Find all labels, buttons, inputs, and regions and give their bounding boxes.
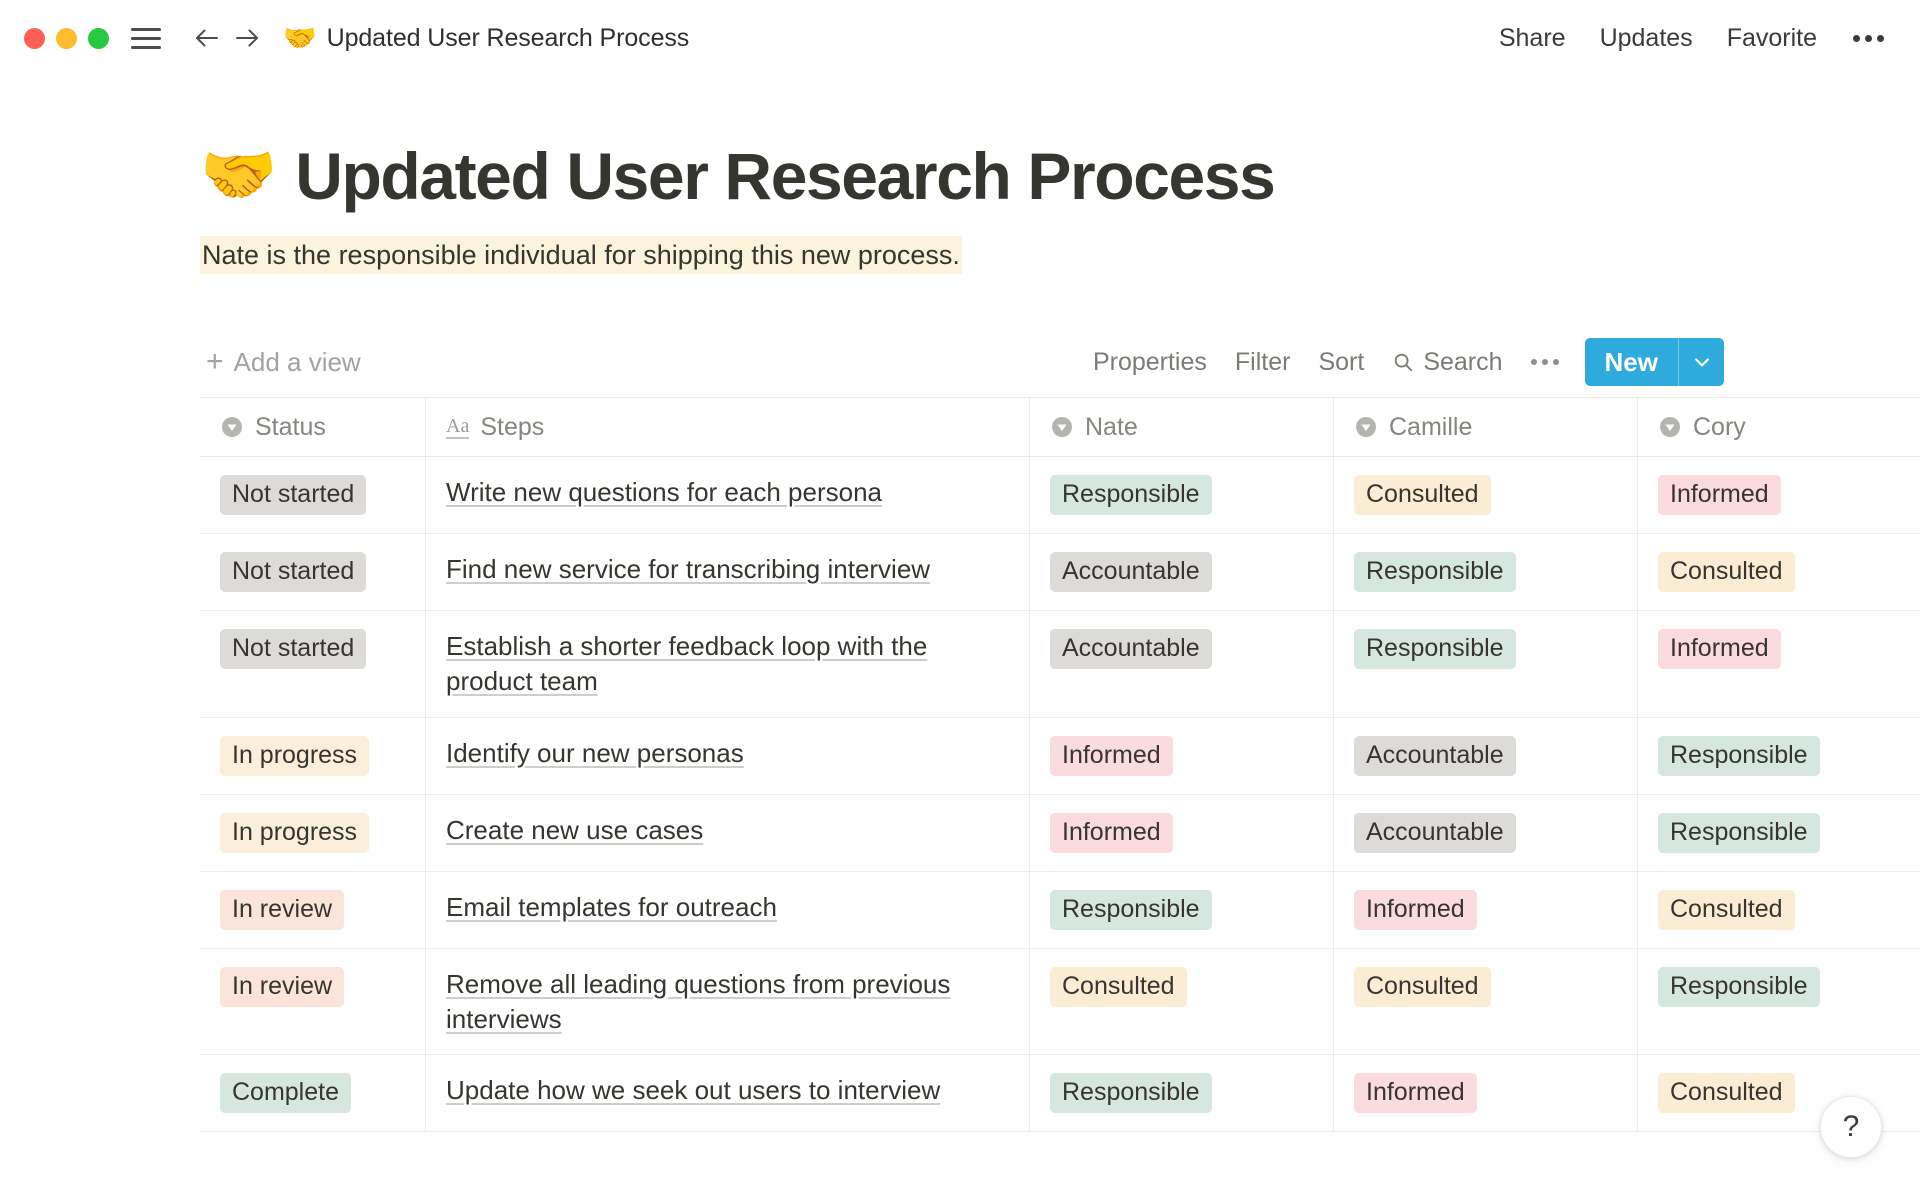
raci-badge-camille: Consulted [1354, 967, 1491, 1007]
cell-nate[interactable]: Accountable [1030, 534, 1334, 610]
step-link[interactable]: Find new service for transcribing interv… [446, 552, 930, 587]
select-icon [1050, 415, 1074, 439]
table-row[interactable]: Not startedEstablish a shorter feedback … [200, 611, 1920, 718]
content-column: 🤝 Updated User Research Process Nate is … [0, 140, 1920, 1132]
table-row[interactable]: Not startedFind new service for transcri… [200, 534, 1920, 611]
back-arrow-icon[interactable] [187, 18, 227, 58]
raci-badge-camille: Responsible [1354, 552, 1516, 592]
column-header-nate[interactable]: Nate [1030, 398, 1334, 456]
cell-steps[interactable]: Find new service for transcribing interv… [426, 534, 1030, 610]
column-header-cory-label: Cory [1693, 413, 1746, 442]
select-icon [1658, 415, 1682, 439]
titlebar-actions: Share Updates Favorite [1499, 24, 1886, 53]
column-header-nate-label: Nate [1085, 413, 1138, 442]
question-mark-icon: ? [1843, 1110, 1860, 1144]
database-view-toolbar: + Add a view Properties Filter Sort Sear… [200, 335, 1920, 389]
table-body: Not startedWrite new questions for each … [200, 457, 1920, 1132]
breadcrumb-title[interactable]: Updated User Research Process [327, 24, 690, 53]
raci-badge-cory: Responsible [1658, 967, 1820, 1007]
column-header-steps[interactable]: Aa Steps [426, 398, 1030, 456]
traffic-lights [24, 28, 109, 49]
table-row[interactable]: In reviewRemove all leading questions fr… [200, 949, 1920, 1056]
status-badge: In review [220, 967, 344, 1007]
column-header-camille[interactable]: Camille [1334, 398, 1638, 456]
cell-nate[interactable]: Informed [1030, 795, 1334, 871]
page-title-text[interactable]: Updated User Research Process [295, 140, 1274, 213]
table-row[interactable]: In reviewEmail templates for outreachRes… [200, 872, 1920, 949]
database-table: Status Aa Steps [200, 397, 1920, 1132]
raci-badge-nate: Informed [1050, 736, 1173, 776]
column-header-status-label: Status [255, 413, 326, 442]
add-view-button[interactable]: + Add a view [200, 343, 367, 382]
help-button[interactable]: ? [1820, 1096, 1882, 1158]
favorite-button[interactable]: Favorite [1727, 24, 1817, 53]
raci-badge-nate: Informed [1050, 813, 1173, 853]
cell-camille[interactable]: Accountable [1334, 718, 1638, 794]
status-badge: Complete [220, 1073, 351, 1113]
more-options-icon[interactable] [1851, 29, 1886, 48]
close-window-button[interactable] [24, 28, 45, 49]
cell-status[interactable]: In review [200, 949, 426, 1055]
cell-status[interactable]: In review [200, 872, 426, 948]
raci-badge-camille: Accountable [1354, 736, 1516, 776]
column-header-steps-label: Steps [480, 413, 544, 442]
raci-badge-nate: Consulted [1050, 967, 1187, 1007]
cell-steps[interactable]: Identify our new personas [426, 718, 1030, 794]
table-row[interactable]: CompleteUpdate how we seek out users to … [200, 1055, 1920, 1132]
cell-cory[interactable]: Responsible [1638, 718, 1920, 794]
title-bar: 🤝 Updated User Research Process Share Up… [0, 0, 1920, 76]
step-link[interactable]: Establish a shorter feedback loop with t… [446, 629, 1009, 699]
app-window: 🤝 Updated User Research Process Share Up… [0, 0, 1920, 1200]
raci-badge-cory: Responsible [1658, 813, 1820, 853]
table-row[interactable]: Not startedWrite new questions for each … [200, 457, 1920, 534]
maximize-window-button[interactable] [88, 28, 109, 49]
cell-camille[interactable]: Consulted [1334, 457, 1638, 533]
cell-cory[interactable]: Informed [1638, 611, 1920, 717]
page-title: 🤝 Updated User Research Process [200, 140, 1920, 213]
forward-arrow-icon[interactable] [227, 18, 267, 58]
text-aa-icon: Aa [446, 416, 469, 439]
raci-badge-cory: Responsible [1658, 736, 1820, 776]
step-link[interactable]: Create new use cases [446, 813, 703, 848]
page-body: 🤝 Updated User Research Process Nate is … [0, 140, 1920, 1132]
raci-badge-camille: Informed [1354, 1073, 1477, 1113]
status-badge: In review [220, 890, 344, 930]
step-link[interactable]: Update how we seek out users to intervie… [446, 1073, 940, 1108]
cell-nate[interactable]: Consulted [1030, 949, 1334, 1055]
cell-status[interactable]: Not started [200, 611, 426, 717]
add-view-label: Add a view [234, 347, 361, 378]
raci-badge-cory: Consulted [1658, 1073, 1795, 1113]
cell-steps[interactable]: Remove all leading questions from previo… [426, 949, 1030, 1055]
step-link[interactable]: Identify our new personas [446, 736, 744, 771]
sidebar-toggle-icon[interactable] [131, 24, 165, 52]
raci-badge-camille: Responsible [1354, 629, 1516, 669]
column-header-camille-label: Camille [1389, 413, 1472, 442]
table-row[interactable]: In progressIdentify our new personasInfo… [200, 718, 1920, 795]
plus-icon: + [206, 347, 224, 377]
raci-badge-cory: Informed [1658, 475, 1781, 515]
page-subtitle-text[interactable]: Nate is the responsible individual for s… [200, 236, 962, 274]
cell-steps[interactable]: Update how we seek out users to intervie… [426, 1055, 1030, 1131]
cell-status[interactable]: Complete [200, 1055, 426, 1131]
raci-badge-cory: Informed [1658, 629, 1781, 669]
cell-camille[interactable]: Consulted [1334, 949, 1638, 1055]
sort-button[interactable]: Sort [1304, 342, 1378, 383]
status-badge: Not started [220, 629, 366, 669]
cell-cory[interactable]: Responsible [1638, 795, 1920, 871]
status-badge: In progress [220, 736, 369, 776]
page-handshake-icon[interactable]: 🤝 [200, 145, 277, 207]
select-icon [220, 415, 244, 439]
cell-nate[interactable]: Responsible [1030, 872, 1334, 948]
raci-badge-camille: Informed [1354, 890, 1477, 930]
cell-status[interactable]: In progress [200, 795, 426, 871]
raci-badge-nate: Responsible [1050, 1073, 1212, 1113]
raci-badge-cory: Consulted [1658, 552, 1795, 592]
step-link[interactable]: Remove all leading questions from previo… [446, 967, 1009, 1037]
select-icon [1354, 415, 1378, 439]
cell-camille[interactable]: Responsible [1334, 534, 1638, 610]
new-button[interactable]: New [1585, 338, 1678, 386]
cell-cory[interactable]: Consulted [1638, 872, 1920, 948]
cell-steps[interactable]: Create new use cases [426, 795, 1030, 871]
raci-badge-camille: Consulted [1354, 475, 1491, 515]
cell-steps[interactable]: Establish a shorter feedback loop with t… [426, 611, 1030, 717]
search-button[interactable]: Search [1378, 342, 1516, 383]
cell-steps[interactable]: Email templates for outreach [426, 872, 1030, 948]
cell-cory[interactable]: Responsible [1638, 949, 1920, 1055]
properties-button[interactable]: Properties [1079, 342, 1221, 383]
cell-status[interactable]: In progress [200, 718, 426, 794]
status-badge: In progress [220, 813, 369, 853]
cell-status[interactable]: Not started [200, 457, 426, 533]
raci-badge-nate: Responsible [1050, 475, 1212, 515]
filter-button[interactable]: Filter [1221, 342, 1305, 383]
status-badge: Not started [220, 552, 366, 592]
column-header-status[interactable]: Status [200, 398, 426, 456]
raci-badge-nate: Responsible [1050, 890, 1212, 930]
cell-nate[interactable]: Responsible [1030, 1055, 1334, 1131]
cell-cory[interactable]: Consulted [1638, 534, 1920, 610]
table-header-row: Status Aa Steps [200, 398, 1920, 457]
view-more-options-icon[interactable] [1517, 349, 1573, 375]
raci-badge-camille: Accountable [1354, 813, 1516, 853]
cell-nate[interactable]: Informed [1030, 718, 1334, 794]
toolbar-right-group: Properties Filter Sort Search [1079, 338, 1724, 386]
column-header-cory[interactable]: Cory [1638, 398, 1920, 456]
status-badge: Not started [220, 475, 366, 515]
cell-camille[interactable]: Responsible [1334, 611, 1638, 717]
cell-nate[interactable]: Responsible [1030, 457, 1334, 533]
page-subtitle-block: Nate is the responsible individual for s… [200, 235, 1920, 276]
search-icon [1392, 351, 1414, 373]
raci-badge-nate: Accountable [1050, 629, 1212, 669]
table-row[interactable]: In progressCreate new use casesInformedA… [200, 795, 1920, 872]
raci-badge-cory: Consulted [1658, 890, 1795, 930]
new-dropdown-chevron-down-icon[interactable] [1678, 338, 1724, 386]
cell-nate[interactable]: Accountable [1030, 611, 1334, 717]
new-button-group: New [1585, 338, 1724, 386]
cell-camille[interactable]: Accountable [1334, 795, 1638, 871]
step-link[interactable]: Email templates for outreach [446, 890, 777, 925]
minimize-window-button[interactable] [56, 28, 77, 49]
cell-steps[interactable]: Write new questions for each persona [426, 457, 1030, 533]
raci-badge-nate: Accountable [1050, 552, 1212, 592]
step-link[interactable]: Write new questions for each persona [446, 475, 882, 510]
search-label: Search [1423, 348, 1502, 377]
share-button[interactable]: Share [1499, 24, 1566, 53]
cell-camille[interactable]: Informed [1334, 1055, 1638, 1131]
cell-camille[interactable]: Informed [1334, 872, 1638, 948]
cell-status[interactable]: Not started [200, 534, 426, 610]
handshake-icon: 🤝 [283, 25, 317, 52]
cell-cory[interactable]: Informed [1638, 457, 1920, 533]
updates-button[interactable]: Updates [1600, 24, 1693, 53]
